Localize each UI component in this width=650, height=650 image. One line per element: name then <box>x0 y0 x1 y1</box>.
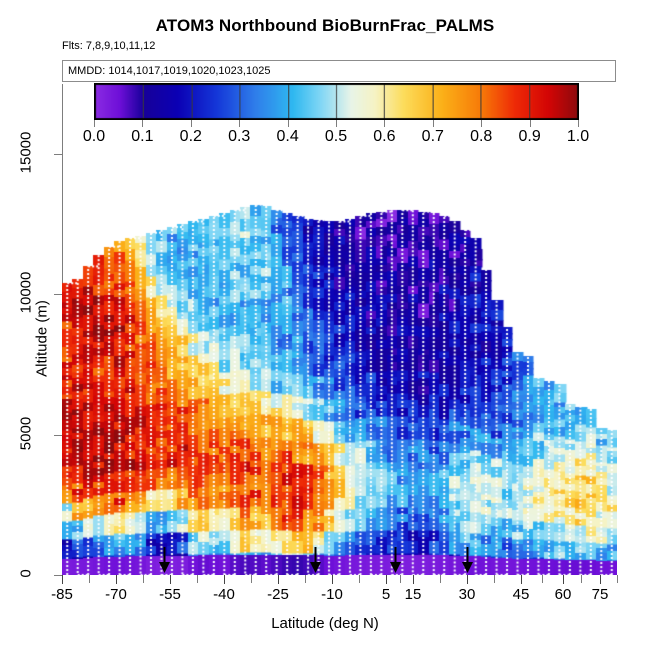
x-axis-tick <box>170 575 171 584</box>
legend-box: MMDD: 1014,1017,1019,1020,1023,1025 <box>62 60 616 82</box>
x-axis-tick-label: -70 <box>105 586 127 603</box>
x-axis-minor-tick <box>494 575 495 583</box>
curtain-plot-canvas <box>62 84 617 575</box>
x-axis-minor-tick <box>581 575 582 583</box>
x-axis-minor-tick <box>305 575 306 583</box>
y-axis-tick <box>54 154 62 155</box>
mmdd-label: MMDD: 1014,1017,1019,1020,1023,1025 <box>68 65 270 77</box>
x-axis-tick <box>563 575 564 584</box>
x-axis-tick <box>62 575 63 584</box>
x-axis-minor-tick <box>359 575 360 583</box>
x-axis-tick <box>278 575 279 584</box>
x-axis-minor-tick <box>617 575 618 583</box>
x-axis-tick <box>600 575 601 584</box>
y-axis-tick <box>54 435 62 436</box>
y-axis-tick-label: 15000 <box>18 125 35 181</box>
x-axis-minor-tick <box>197 575 198 583</box>
x-axis-minor-tick <box>251 575 252 583</box>
y-axis-tick-label: 0 <box>18 546 35 602</box>
down-arrow-icon <box>309 547 322 573</box>
x-axis-minor-tick <box>542 575 543 583</box>
y-axis-tick <box>54 575 62 576</box>
x-axis-tick-label: 60 <box>555 586 572 603</box>
x-axis-tick-label: 30 <box>459 586 476 603</box>
down-arrow-icon <box>461 547 474 573</box>
y-axis-tick <box>54 294 62 295</box>
flights-label: Flts: 7,8,9,10,11,12 <box>62 40 155 52</box>
x-axis-tick <box>116 575 117 584</box>
x-axis-tick <box>386 575 387 584</box>
x-axis-tick-label: -25 <box>267 586 289 603</box>
x-axis-minor-tick <box>440 575 441 583</box>
x-axis-minor-tick <box>400 575 401 583</box>
y-axis-tick-label: 5000 <box>18 405 35 461</box>
x-axis-tick-label: -10 <box>321 586 343 603</box>
x-axis-tick-label: 5 <box>382 586 390 603</box>
x-axis-tick-label: -55 <box>159 586 181 603</box>
x-axis-tick <box>413 575 414 584</box>
x-axis-minor-tick <box>143 575 144 583</box>
y-axis-title: Altitude (m) <box>34 269 51 409</box>
x-axis-tick <box>521 575 522 584</box>
x-axis-tick-label: 15 <box>405 586 422 603</box>
down-arrow-icon <box>389 547 402 573</box>
x-axis-tick-label: -85 <box>51 586 73 603</box>
x-axis-tick-label: -40 <box>213 586 235 603</box>
x-axis-tick <box>224 575 225 584</box>
x-axis-title: Latitude (deg N) <box>0 615 650 632</box>
page-title: ATOM3 Northbound BioBurnFrac_PALMS <box>0 16 650 36</box>
x-axis-tick-label: 45 <box>513 586 530 603</box>
x-axis-tick <box>467 575 468 584</box>
x-axis-tick-label: 75 <box>592 586 609 603</box>
x-axis-minor-tick <box>89 575 90 583</box>
x-axis-tick <box>332 575 333 584</box>
down-arrow-icon <box>158 547 171 573</box>
y-axis-tick-label: 10000 <box>18 265 35 321</box>
